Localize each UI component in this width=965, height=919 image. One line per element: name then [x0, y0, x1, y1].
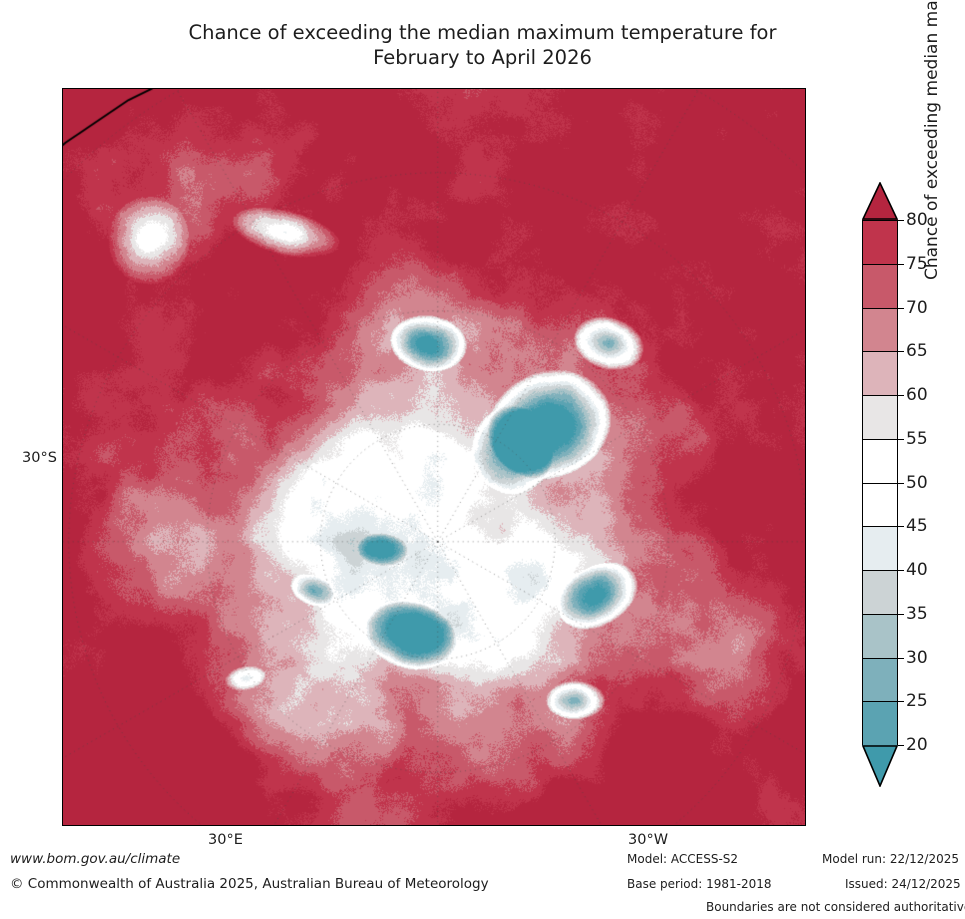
longitude-label-30e: 30°E [208, 832, 243, 848]
footer-issued-date: Issued: 24/12/2025 [845, 877, 961, 891]
colorbar-tick-label: 60 [906, 385, 928, 405]
map-plot-area[interactable] [62, 88, 806, 826]
colorbar-tick-label: 40 [906, 560, 928, 580]
colorbar-tick-mark [898, 395, 904, 396]
colorbar-tick-mark [898, 351, 904, 352]
colorbar-tick-mark [898, 745, 904, 746]
colorbar-band-65-70 [863, 309, 897, 353]
colorbar-tick-label: 45 [906, 516, 928, 536]
footer-copyright: © Commonwealth of Australia 2025, Austra… [10, 876, 489, 892]
colorbar-band-75-80 [863, 221, 897, 265]
colorbar-tick-mark [898, 570, 904, 571]
colorbar-band-35-40 [863, 571, 897, 615]
colorbar-band-25-30 [863, 659, 897, 703]
colorbar-tick-label: 35 [906, 604, 928, 624]
colorbar-tick-mark [898, 308, 904, 309]
footer-model-run: Model run: 22/12/2025 [822, 852, 959, 866]
probability-heatmap-canvas[interactable] [63, 89, 805, 825]
colorbar-tick-label: 30 [906, 648, 928, 668]
colorbar-tick-label: 50 [906, 473, 928, 493]
colorbar-band-50-55 [863, 440, 897, 484]
colorbar-band-60-65 [863, 352, 897, 396]
colorbar-under-arrow-outline [862, 745, 898, 787]
colorbar-tick-label: 65 [906, 341, 928, 361]
colorbar-tick-label: 55 [906, 429, 928, 449]
footer-base-period: Base period: 1981-2018 [627, 877, 772, 891]
colorbar-tick-mark [898, 658, 904, 659]
colorbar-tick-mark [898, 614, 904, 615]
colorbar-bands [862, 220, 898, 745]
longitude-label-30w: 30°W [628, 832, 668, 848]
colorbar-band-30-35 [863, 615, 897, 659]
colorbar-tick-mark [898, 526, 904, 527]
footer-website-url[interactable]: www.bom.gov.au/climate [10, 851, 180, 867]
title-line-2: February to April 2026 [0, 45, 965, 70]
colorbar-tick-label: 25 [906, 691, 928, 711]
colorbar-band-45-50 [863, 484, 897, 528]
colorbar-tick-mark [898, 264, 904, 265]
colorbar-band-20-25 [863, 702, 897, 746]
colorbar-tick-container: 80757065605550454035302520 [898, 220, 958, 745]
colorbar-tick-mark [898, 220, 904, 221]
page-title: Chance of exceeding the median maximum t… [0, 20, 965, 70]
latitude-label-30s: 30°S [22, 450, 57, 466]
footer-boundary-note: Boundaries are not considered authoritat… [706, 900, 965, 914]
colorbar-band-40-45 [863, 527, 897, 571]
colorbar-tick-label: 20 [906, 735, 928, 755]
title-line-1: Chance of exceeding the median maximum t… [0, 20, 965, 45]
colorbar-tick-mark [898, 701, 904, 702]
colorbar-tick-mark [898, 439, 904, 440]
colorbar: 80757065605550454035302520 [855, 182, 965, 792]
colorbar-axis-title: Chance of exceeding median max. temp. (%… [922, 0, 948, 280]
colorbar-tick-mark [898, 483, 904, 484]
colorbar-tick-label: 70 [906, 298, 928, 318]
colorbar-band-55-60 [863, 396, 897, 440]
footer-model: Model: ACCESS-S2 [627, 852, 738, 866]
colorbar-over-arrow-outline [862, 182, 898, 220]
colorbar-band-70-75 [863, 265, 897, 309]
